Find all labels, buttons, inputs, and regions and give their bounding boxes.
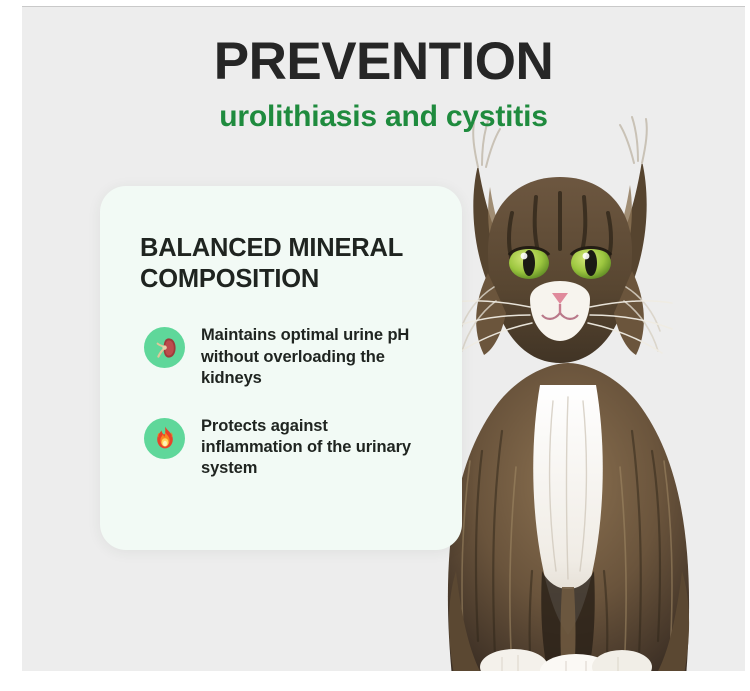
kidney-icon [144,327,185,368]
flame-icon [144,418,185,459]
content-panel: PREVENTION urolithiasis and cystitis [22,6,745,671]
card-title: BALANCED MINERAL COMPOSITION [100,186,462,295]
list-item: Protects against inflammation of the uri… [144,416,444,480]
feature-text: Protects against inflammation of the uri… [201,416,413,480]
page-title: PREVENTION [22,35,745,89]
feature-text: Maintains optimal urine pH without overl… [201,325,413,389]
feature-list: Maintains optimal urine pH without overl… [100,295,462,480]
list-item: Maintains optimal urine pH without overl… [144,325,444,389]
poster-canvas: PREVENTION urolithiasis and cystitis [0,0,750,691]
page-subtitle: urolithiasis and cystitis [22,101,745,133]
header-block: PREVENTION urolithiasis and cystitis [22,35,745,133]
feature-card: BALANCED MINERAL COMPOSITION Maintains o… [100,186,462,550]
